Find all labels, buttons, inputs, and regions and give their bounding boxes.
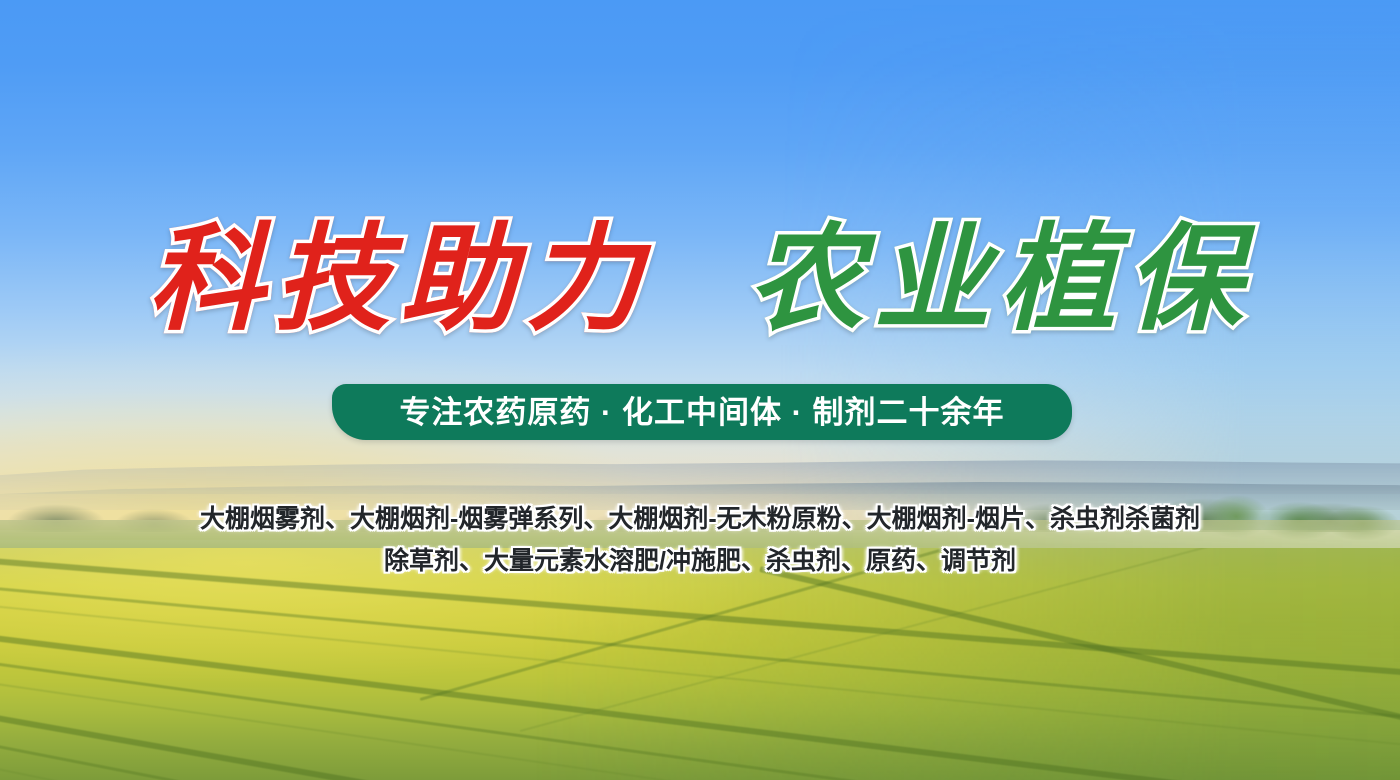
description-block: 大棚烟雾剂、大棚烟剂-烟雾弹系列、大棚烟剂-无木粉原粉、大棚烟剂-烟片、杀虫剂杀… [0,498,1400,582]
subtitle-badge: 专注农药原药 · 化工中间体 · 制剂二十余年 [332,384,1072,440]
hero-banner: 科技助力 农业植保 专注农药原药 · 化工中间体 · 制剂二十余年 大棚烟雾剂、… [0,0,1400,780]
subtitle-text: 专注农药原药 · 化工中间体 · 制剂二十余年 [399,397,1004,428]
title-green-text: 农业植保 [748,214,1252,348]
page-title: 科技助力 农业植保 [0,214,1400,348]
description-line-2: 除草剂、大量元素水溶肥/冲施肥、杀虫剂、原药、调节剂 [0,540,1400,582]
title-red-text: 科技助力 [148,214,652,348]
description-line-1: 大棚烟雾剂、大棚烟剂-烟雾弹系列、大棚烟剂-无木粉原粉、大棚烟剂-烟片、杀虫剂杀… [0,498,1400,540]
field-furrow-lines [0,548,1400,780]
